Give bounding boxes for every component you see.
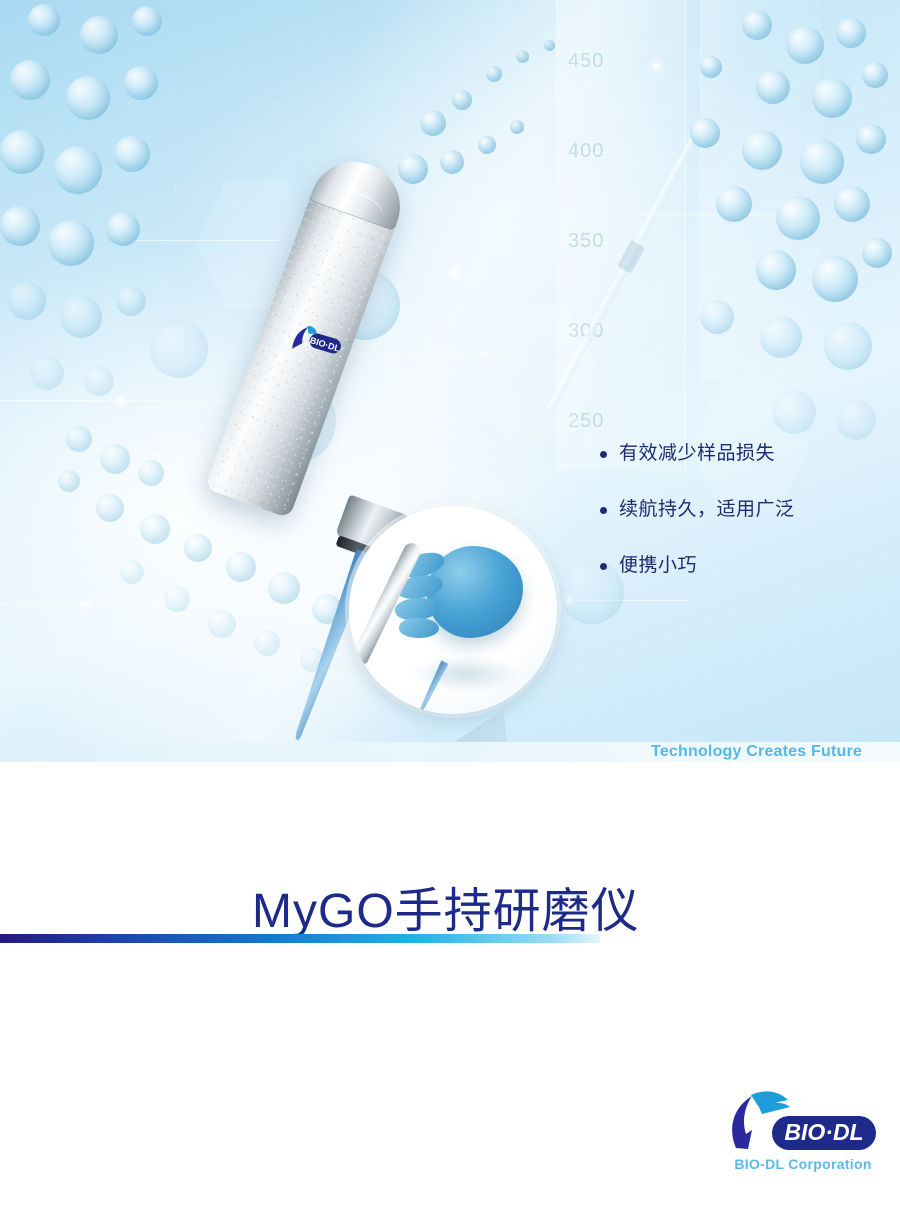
- bullet-dot-icon: [600, 563, 607, 570]
- inset-shadow: [411, 656, 521, 692]
- device-barrel: BIO·DL: [205, 150, 413, 519]
- bullet-dot-icon: [600, 451, 607, 458]
- company-name: BIO-DL Corporation: [718, 1156, 888, 1172]
- feature-bullet-text: 有效减少样品损失: [619, 442, 775, 466]
- svg-text:BIO·DL: BIO·DL: [784, 1119, 863, 1145]
- feature-bullet-item: 续航持久，适用广泛: [600, 498, 890, 522]
- device-cap: [309, 150, 412, 232]
- feature-bullet-text: 续航持久，适用广泛: [619, 498, 795, 522]
- feature-bullet-item: 有效减少样品损失: [600, 442, 890, 466]
- page-title: MyGO手持研磨仪: [252, 871, 640, 941]
- glove-finger: [399, 618, 439, 638]
- biodl-logo-on-device: BIO·DL: [286, 318, 347, 364]
- tagline: Technology Creates Future: [651, 742, 862, 762]
- bullet-dot-icon: [600, 507, 607, 514]
- feature-bullet-list: 有效减少样品损失 续航持久，适用广泛 便携小巧: [600, 442, 890, 609]
- footer-logo: BIO·DL BIO-DL Corporation: [718, 1086, 888, 1186]
- biodl-logo-mark: BIO·DL: [718, 1086, 888, 1152]
- hero-banner: 450 400 350 300 250: [0, 0, 900, 762]
- feature-bullet-text: 便携小巧: [619, 554, 697, 578]
- feature-bullet-item: 便携小巧: [600, 554, 890, 578]
- title-underline-rule: [0, 934, 600, 943]
- inset-photo-circle: [349, 506, 557, 714]
